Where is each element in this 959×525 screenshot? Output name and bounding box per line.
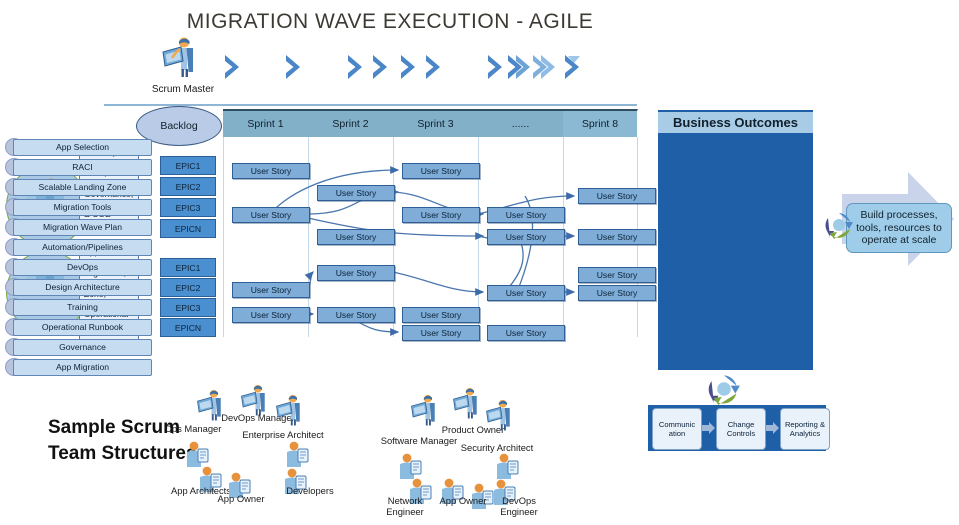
business-outcome-label: RACI [13, 159, 152, 176]
user-story-card[interactable]: User Story [578, 229, 656, 245]
business-outcome-item[interactable]: App Selection [5, 138, 150, 154]
epic-chip[interactable]: EPICN [160, 219, 216, 238]
epic-chip[interactable]: EPIC3 [160, 198, 216, 217]
epic-chip[interactable]: EPIC2 [160, 177, 216, 196]
business-outcome-item[interactable]: RACI [5, 158, 150, 174]
business-outcome-item[interactable]: Automation/Pipelines [5, 238, 150, 254]
user-story-card[interactable]: User Story [317, 307, 395, 323]
role-label: Network Engineer [374, 496, 436, 517]
sprint-column-header[interactable]: ...... [478, 109, 564, 137]
user-story-card[interactable]: User Story [317, 185, 395, 201]
business-outcome-item[interactable]: Governance [5, 338, 150, 354]
business-outcome-label: Migration Tools [13, 199, 152, 216]
epic-chip[interactable]: EPIC1 [160, 258, 216, 277]
user-story-card[interactable]: User Story [232, 207, 310, 223]
business-outcome-item[interactable]: Migration Wave Plan [5, 218, 150, 234]
epic-chip[interactable]: EPIC3 [160, 298, 216, 317]
person-presenting-icon [485, 398, 519, 437]
user-story-card[interactable]: User Story [402, 307, 480, 323]
user-story-card[interactable]: User Story [487, 207, 565, 223]
business-outcome-item[interactable]: Scalable Landing Zone [5, 178, 150, 194]
role-label: App Owner [210, 494, 272, 505]
sprint-column-header[interactable]: Sprint 1 [223, 109, 309, 137]
chevron-right-icon [398, 54, 420, 80]
chevron-right-icon [222, 54, 244, 80]
epic-chip[interactable]: EPIC2 [160, 278, 216, 297]
user-story-card[interactable]: User Story [317, 229, 395, 245]
business-outcome-label: Scalable Landing Zone [13, 179, 152, 196]
business-outcome-item[interactable]: App Migration [5, 358, 150, 374]
business-outcome-label: App Selection [13, 139, 152, 156]
user-story-card[interactable]: User Story [317, 265, 395, 281]
business-outcome-item[interactable]: Operational Runbook [5, 318, 150, 334]
business-outcome-label: Migration Wave Plan [13, 219, 152, 236]
user-story-card[interactable]: User Story [578, 285, 656, 301]
business-outcome-label: Automation/Pipelines [13, 239, 152, 256]
scrum-master-group: Scrum Master [140, 36, 226, 95]
page-title: MIGRATION WAVE EXECUTION - AGILE [0, 10, 780, 34]
business-outcome-label: DevOps [13, 259, 152, 276]
business-outcome-item[interactable]: Training [5, 298, 150, 314]
user-story-card[interactable]: User Story [487, 325, 565, 341]
process-box[interactable]: Change Controls [716, 408, 766, 450]
arrow-right-icon [766, 421, 779, 433]
chevron-right-icon [370, 54, 392, 80]
business-outcome-label: Design Architecture [13, 279, 152, 296]
callout-text: Build processes, tools, resources to ope… [847, 209, 951, 247]
business-outcome-label: App Migration [13, 359, 152, 376]
user-story-card[interactable]: User Story [487, 229, 565, 245]
business-outcome-item[interactable]: Design Architecture [5, 278, 150, 294]
business-outcome-label: Training [13, 299, 152, 316]
role-label: DevOps Engineer [483, 496, 555, 517]
chevron-right-icon [562, 54, 586, 80]
user-story-card[interactable]: User Story [487, 285, 565, 301]
user-story-card[interactable]: User Story [402, 325, 480, 341]
business-outcome-label: Operational Runbook [13, 319, 152, 336]
business-outcomes-panel [658, 110, 813, 370]
chevron-right-icon [283, 54, 305, 80]
user-story-card[interactable]: User Story [232, 163, 310, 179]
chevron-right-icon [345, 54, 367, 80]
role-label: Enterprise Architect [233, 430, 333, 441]
business-outcome-item[interactable]: Migration Tools [5, 198, 150, 214]
recycle-arrows-icon [824, 210, 854, 245]
person-presenting-icon [275, 393, 309, 432]
person-presenting-icon [161, 65, 205, 82]
user-story-card[interactable]: User Story [232, 307, 310, 323]
user-story-card[interactable]: User Story [232, 282, 310, 298]
scrum-master-label: Scrum Master [140, 84, 226, 95]
sprint-column-header[interactable]: Sprint 2 [308, 109, 394, 137]
business-outcome-label: Governance [13, 339, 152, 356]
chevron-right-icon [423, 54, 445, 80]
process-box[interactable]: Communic ation [652, 408, 702, 450]
arrow-right-icon [702, 421, 715, 433]
user-story-card[interactable]: User Story [402, 207, 480, 223]
business-outcome-item[interactable]: DevOps [5, 258, 150, 274]
sprint-board: Sprint 1 Sprint 2 Sprint 3 ...... Sprint… [223, 109, 637, 337]
build-processes-callout: Build processes, tools, resources to ope… [846, 203, 952, 253]
sprint-column-header[interactable]: Sprint 3 [393, 109, 479, 137]
chevron-right-icon [485, 54, 507, 80]
user-story-card[interactable]: User Story [578, 267, 656, 283]
sprint-column-header[interactable]: Sprint 8 [563, 109, 638, 137]
epic-chip[interactable]: EPIC1 [160, 156, 216, 175]
role-label: Developers [277, 486, 343, 497]
person-presenting-icon [452, 386, 486, 425]
user-story-card[interactable]: User Story [402, 163, 480, 179]
chevron-double-right-icon [530, 54, 560, 80]
epic-chip[interactable]: EPICN [160, 318, 216, 337]
process-box[interactable]: Reporting & Analytics [780, 408, 830, 450]
user-story-card[interactable]: User Story [578, 188, 656, 204]
role-label: Ops Manager [158, 424, 228, 435]
business-outcomes-title: Business Outcomes [658, 112, 813, 133]
